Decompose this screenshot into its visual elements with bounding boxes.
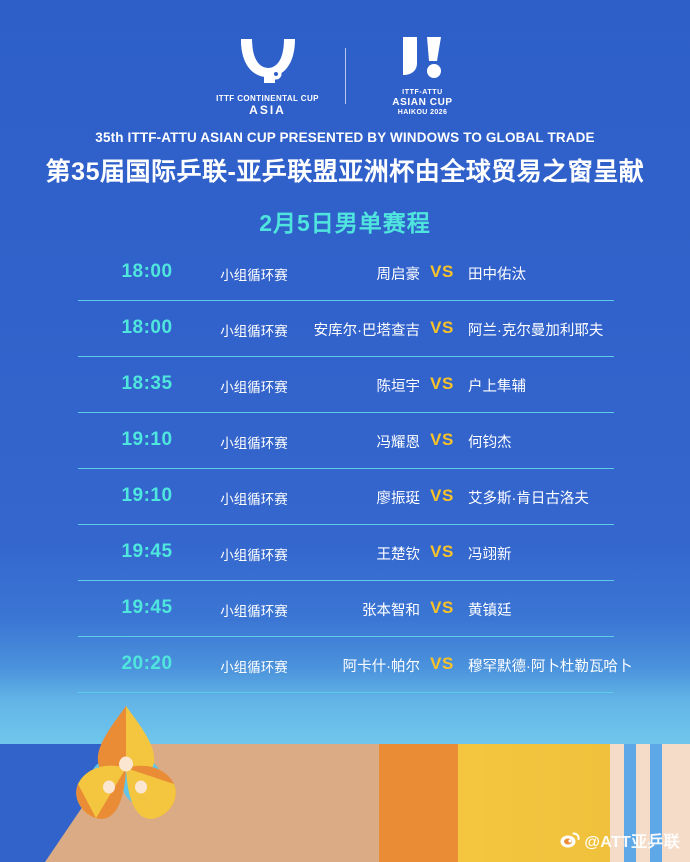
match-stage: 小组循环赛	[208, 600, 300, 620]
match-row: 18:00小组循环赛周启豪VS田中佑汰	[78, 245, 614, 301]
match-player-1: 张本智和	[300, 599, 420, 620]
match-player-2: 黄镇廷	[468, 599, 628, 620]
weibo-watermark: @ATT亚乒联	[560, 828, 680, 852]
match-player-1: 安库尔·巴塔查吉	[300, 319, 420, 340]
logo-bar: ITTF CONTINENTAL CUP ASIA ITTF-ATTU ASIA…	[0, 30, 690, 122]
title-english: 35th ITTF-ATTU ASIAN CUP PRESENTED BY WI…	[0, 130, 690, 145]
match-time: 18:00	[102, 261, 192, 283]
match-player-1: 陈垣宇	[300, 375, 420, 396]
match-stage: 小组循环赛	[208, 656, 300, 676]
ittf-continental-cup-asia-logo: ITTF CONTINENTAL CUP ASIA	[209, 35, 327, 118]
match-player-2: 何钧杰	[468, 431, 628, 452]
match-row: 19:45小组循环赛张本智和VS黄镇廷	[78, 581, 614, 637]
match-time: 20:20	[102, 653, 192, 675]
match-player-2: 冯翊新	[468, 543, 628, 564]
match-row: 19:45小组循环赛王楚钦VS冯翊新	[78, 525, 614, 581]
match-player-2: 艾多斯·肯日古洛夫	[468, 487, 628, 508]
match-vs-label: VS	[422, 654, 462, 674]
match-vs-label: VS	[422, 430, 462, 450]
logo-left-caption-line2: ASIA	[249, 103, 286, 117]
match-vs-label: VS	[422, 598, 462, 618]
match-time: 19:45	[102, 541, 192, 563]
logo-divider	[345, 48, 346, 104]
match-player-1: 周启豪	[300, 263, 420, 284]
match-time: 19:45	[102, 597, 192, 619]
match-vs-label: VS	[422, 318, 462, 338]
match-schedule-list: 18:00小组循环赛周启豪VS田中佑汰18:00小组循环赛安库尔·巴塔查吉VS阿…	[78, 245, 614, 693]
match-stage: 小组循环赛	[208, 488, 300, 508]
match-stage: 小组循环赛	[208, 376, 300, 396]
continental-cup-mark-icon	[229, 35, 307, 91]
match-stage: 小组循环赛	[208, 320, 300, 340]
ittf-attu-asian-cup-logo: ITTF-ATTU ASIAN CUP HAIKOU 2026	[364, 35, 482, 117]
match-player-2: 田中佑汰	[468, 263, 628, 284]
weibo-icon	[560, 832, 580, 848]
asian-cup-mark-icon	[397, 35, 449, 85]
match-time: 19:10	[102, 485, 192, 507]
match-stage: 小组循环赛	[208, 432, 300, 452]
match-vs-label: VS	[422, 374, 462, 394]
match-player-2: 阿兰·克尔曼加利耶夫	[468, 319, 628, 340]
schedule-subtitle: 2月5日男单赛程	[0, 204, 690, 238]
match-player-1: 廖振珽	[300, 487, 420, 508]
match-vs-label: VS	[422, 262, 462, 282]
match-time: 18:00	[102, 317, 192, 339]
match-player-1: 冯耀恩	[300, 431, 420, 452]
logo-left-caption-line1: ITTF CONTINENTAL CUP	[216, 94, 319, 103]
match-vs-label: VS	[422, 486, 462, 506]
match-time: 18:35	[102, 373, 192, 395]
match-row: 20:20小组循环赛阿卡什·帕尔VS穆罕默德·阿卜杜勒瓦哈卜	[78, 637, 614, 693]
match-player-2: 穆罕默德·阿卜杜勒瓦哈卜	[468, 655, 628, 676]
match-row: 18:35小组循环赛陈垣宇VS户上隼辅	[78, 357, 614, 413]
match-stage: 小组循环赛	[208, 264, 300, 284]
match-time: 19:10	[102, 429, 192, 451]
title-chinese: 第35届国际乒联-亚乒联盟亚洲杯由全球贸易之窗呈献	[0, 152, 690, 188]
match-row: 19:10小组循环赛廖振珽VS艾多斯·肯日古洛夫	[78, 469, 614, 525]
weibo-handle: @ATT亚乒联	[584, 828, 680, 852]
match-vs-label: VS	[422, 542, 462, 562]
match-stage: 小组循环赛	[208, 544, 300, 564]
poster-canvas: ITTF CONTINENTAL CUP ASIA ITTF-ATTU ASIA…	[0, 0, 690, 862]
match-player-1: 王楚钦	[300, 543, 420, 564]
match-row: 18:00小组循环赛安库尔·巴塔查吉VS阿兰·克尔曼加利耶夫	[78, 301, 614, 357]
logo-right-caption-line1: ITTF-ATTU	[402, 89, 443, 97]
match-row: 19:10小组循环赛冯耀恩VS何钧杰	[78, 413, 614, 469]
logo-right-caption-line3: HAIKOU 2026	[398, 109, 448, 117]
bauhinia-flower-icon	[62, 702, 190, 830]
logo-right-caption-line2: ASIAN CUP	[392, 97, 452, 109]
match-player-2: 户上隼辅	[468, 375, 628, 396]
match-player-1: 阿卡什·帕尔	[300, 655, 420, 676]
